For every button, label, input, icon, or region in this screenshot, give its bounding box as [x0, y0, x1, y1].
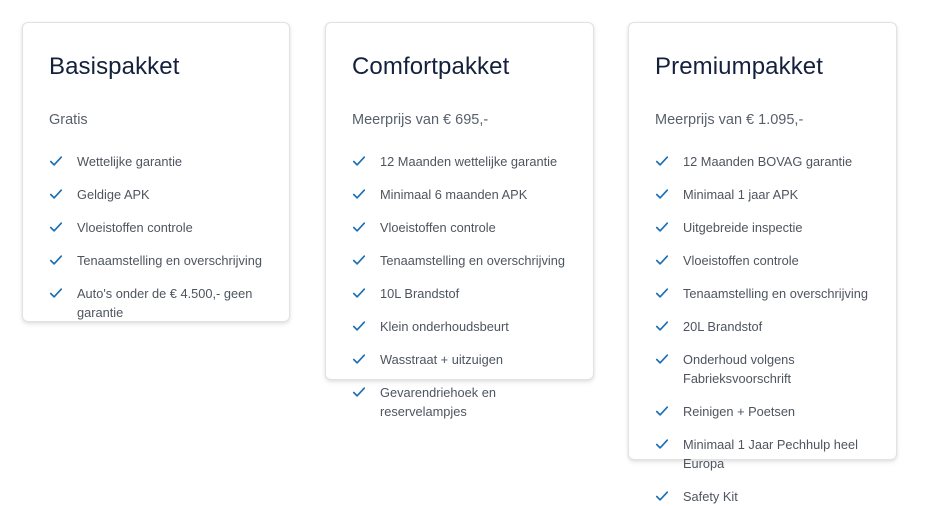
- check-icon: [655, 437, 669, 451]
- feature-label: Gevarendriehoek en reservelampjes: [380, 385, 496, 419]
- feature-item: Minimaal 1 jaar APK: [655, 185, 870, 204]
- feature-label: Klein onderhoudsbeurt: [380, 319, 509, 334]
- check-icon: [352, 286, 366, 300]
- feature-label: Geldige APK: [77, 187, 150, 202]
- package-card-content: Premiumpakket Meerprijs van € 1.095,- 12…: [629, 23, 896, 506]
- feature-label: 10L Brandstof: [380, 286, 459, 301]
- check-icon: [655, 489, 669, 503]
- feature-item: Safety Kit: [655, 487, 870, 506]
- check-icon: [655, 253, 669, 267]
- package-price: Gratis: [49, 110, 263, 130]
- check-icon: [352, 352, 366, 366]
- package-title: Comfortpakket: [352, 51, 567, 83]
- feature-item: Geldige APK: [49, 185, 263, 204]
- package-card-comfortpakket[interactable]: Comfortpakket Meerprijs van € 695,- 12 M…: [325, 22, 594, 380]
- package-title: Premiumpakket: [655, 51, 870, 83]
- check-icon: [352, 154, 366, 168]
- feature-item: Tenaamstelling en overschrijving: [655, 284, 870, 303]
- feature-item: Minimaal 1 Jaar Pechhulp heel Europa: [655, 435, 870, 473]
- check-icon: [49, 187, 63, 201]
- feature-label: Minimaal 1 jaar APK: [683, 187, 798, 202]
- feature-label: Safety Kit: [683, 489, 738, 504]
- package-card-basispakket[interactable]: Basispakket Gratis Wettelijke garantie G…: [22, 22, 290, 322]
- package-price: Meerprijs van € 1.095,-: [655, 110, 870, 130]
- check-icon: [655, 286, 669, 300]
- feature-label: Uitgebreide inspectie: [683, 220, 803, 235]
- package-card-premiumpakket[interactable]: Premiumpakket Meerprijs van € 1.095,- 12…: [628, 22, 897, 460]
- feature-label: 12 Maanden wettelijke garantie: [380, 154, 557, 169]
- feature-item: 10L Brandstof: [352, 284, 567, 303]
- package-card-content: Comfortpakket Meerprijs van € 695,- 12 M…: [326, 23, 593, 421]
- check-icon: [352, 319, 366, 333]
- feature-item: Vloeistoffen controle: [352, 218, 567, 237]
- check-icon: [49, 154, 63, 168]
- check-icon: [352, 253, 366, 267]
- feature-item: Reinigen + Poetsen: [655, 402, 870, 421]
- feature-label: Reinigen + Poetsen: [683, 404, 795, 419]
- feature-item: Vloeistoffen controle: [655, 251, 870, 270]
- feature-label: Minimaal 6 maanden APK: [380, 187, 527, 202]
- feature-item: Wettelijke garantie: [49, 152, 263, 171]
- pricing-packages-board: Basispakket Gratis Wettelijke garantie G…: [0, 0, 926, 480]
- feature-label: Wasstraat + uitzuigen: [380, 352, 503, 367]
- feature-item: 20L Brandstof: [655, 317, 870, 336]
- check-icon: [655, 154, 669, 168]
- feature-item: Onderhoud volgens Fabrieksvoorschrift: [655, 350, 870, 388]
- feature-item: Tenaamstelling en overschrijving: [49, 251, 263, 270]
- feature-label: Wettelijke garantie: [77, 154, 182, 169]
- check-icon: [49, 286, 63, 300]
- feature-item: 12 Maanden wettelijke garantie: [352, 152, 567, 171]
- package-feature-list: Wettelijke garantie Geldige APK Vloeisto…: [49, 152, 263, 322]
- feature-item: Tenaamstelling en overschrijving: [352, 251, 567, 270]
- check-icon: [655, 220, 669, 234]
- package-feature-list: 12 Maanden wettelijke garantie Minimaal …: [352, 152, 567, 421]
- check-icon: [655, 319, 669, 333]
- check-icon: [352, 385, 366, 399]
- check-icon: [49, 220, 63, 234]
- package-title: Basispakket: [49, 51, 263, 83]
- feature-label: Vloeistoffen controle: [380, 220, 496, 235]
- feature-label: Minimaal 1 Jaar Pechhulp heel Europa: [683, 437, 858, 471]
- feature-label: Onderhoud volgens Fabrieksvoorschrift: [683, 352, 795, 386]
- feature-label: Auto's onder de € 4.500,- geen garantie: [77, 286, 252, 320]
- check-icon: [352, 187, 366, 201]
- feature-item: Uitgebreide inspectie: [655, 218, 870, 237]
- feature-item: Vloeistoffen controle: [49, 218, 263, 237]
- feature-item: Gevarendriehoek en reservelampjes: [352, 383, 567, 421]
- check-icon: [655, 352, 669, 366]
- feature-item: Wasstraat + uitzuigen: [352, 350, 567, 369]
- feature-label: Vloeistoffen controle: [77, 220, 193, 235]
- check-icon: [655, 404, 669, 418]
- feature-item: Klein onderhoudsbeurt: [352, 317, 567, 336]
- check-icon: [655, 187, 669, 201]
- feature-label: 20L Brandstof: [683, 319, 762, 334]
- feature-label: 12 Maanden BOVAG garantie: [683, 154, 852, 169]
- feature-label: Tenaamstelling en overschrijving: [683, 286, 868, 301]
- package-price: Meerprijs van € 695,-: [352, 110, 567, 130]
- feature-item: Minimaal 6 maanden APK: [352, 185, 567, 204]
- feature-item: 12 Maanden BOVAG garantie: [655, 152, 870, 171]
- feature-label: Tenaamstelling en overschrijving: [380, 253, 565, 268]
- package-card-content: Basispakket Gratis Wettelijke garantie G…: [23, 23, 289, 322]
- feature-label: Tenaamstelling en overschrijving: [77, 253, 262, 268]
- check-icon: [352, 220, 366, 234]
- feature-label: Vloeistoffen controle: [683, 253, 799, 268]
- check-icon: [49, 253, 63, 267]
- feature-item: Auto's onder de € 4.500,- geen garantie: [49, 284, 263, 322]
- package-feature-list: 12 Maanden BOVAG garantie Minimaal 1 jaa…: [655, 152, 870, 506]
